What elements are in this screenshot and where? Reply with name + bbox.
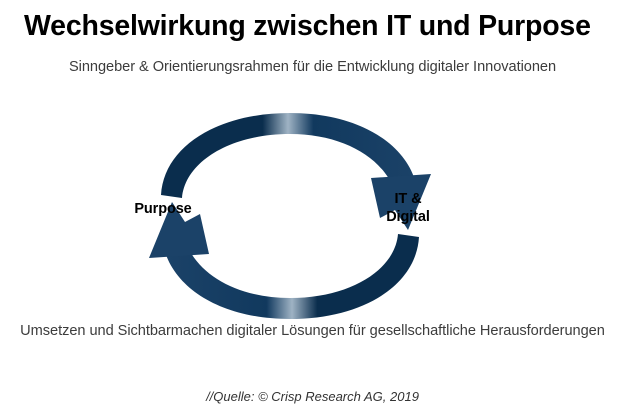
node-label-it-digital: IT & Digital [358, 190, 458, 226]
bottom-caption-text: Umsetzen und Sichtbarmachen digitaler Lö… [0, 322, 625, 342]
top-caption-text: Sinngeber & Orientierungsrahmen für die … [0, 58, 625, 78]
page-title: Wechselwirkung zwischen IT und Purpose [24, 9, 604, 43]
node-label-purpose: Purpose [118, 200, 208, 218]
source-attribution: //Quelle: © Crisp Research AG, 2019 [0, 388, 625, 406]
slide-canvas: Wechselwirkung zwischen IT und Purpose S… [0, 0, 625, 418]
